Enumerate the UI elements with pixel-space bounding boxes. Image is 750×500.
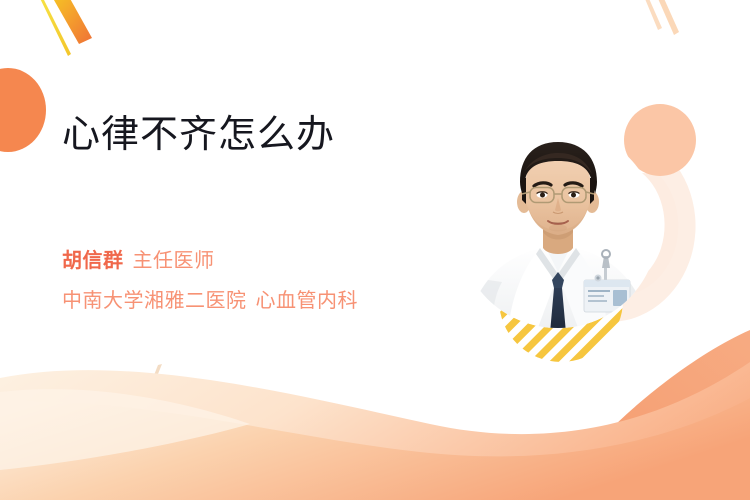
doctor-department: 心血管内科 <box>256 290 359 312</box>
doctor-credits: 胡信群主任医师 中南大学湘雅二医院心血管内科 <box>62 247 358 315</box>
doctor-video-cover-card: 心律不齐怎么办 胡信群主任医师 中南大学湘雅二医院心血管内科 <box>0 0 750 500</box>
doctor-org-line: 中南大学湘雅二医院心血管内科 <box>62 287 358 315</box>
doctor-rank: 主任医师 <box>133 250 215 272</box>
page-title: 心律不齐怎么办 <box>62 112 492 158</box>
lapel-emblem <box>595 275 602 282</box>
doctor-portrait <box>458 128 658 328</box>
doctor-name-line: 胡信群主任医师 <box>62 247 358 275</box>
doctor-photo <box>458 128 658 328</box>
title-block: 心律不齐怎么办 <box>62 112 492 158</box>
doctor-name: 胡信群 <box>62 250 124 272</box>
doctor-hospital: 中南大学湘雅二医院 <box>62 290 247 312</box>
